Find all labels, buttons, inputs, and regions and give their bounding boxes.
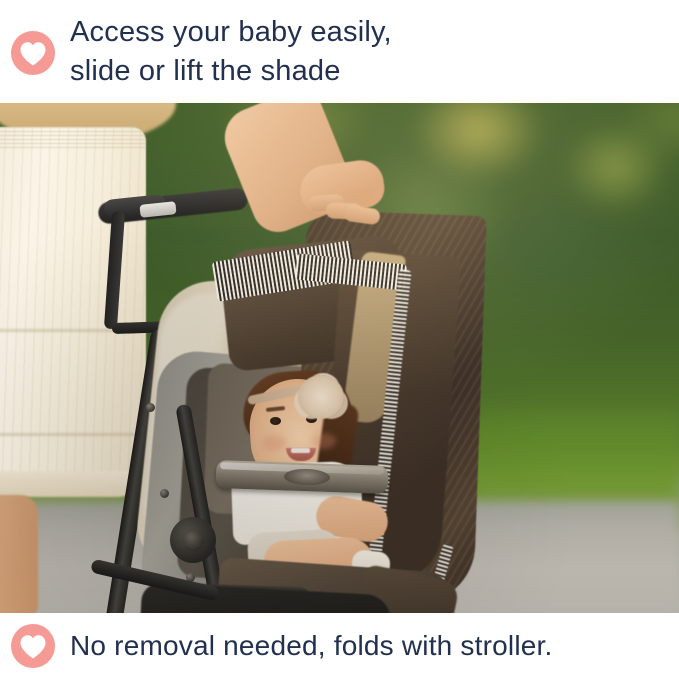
product-feature-card: Access your baby easily, slide or lift t… bbox=[0, 0, 679, 679]
baby-cheek-left bbox=[262, 435, 286, 451]
heart-in-circle-icon bbox=[10, 623, 56, 669]
bottom-caption-banner: No removal needed, folds with stroller. bbox=[0, 613, 679, 679]
top-caption-line-2: slide or lift the shade bbox=[70, 52, 392, 91]
top-caption-banner: Access your baby easily, slide or lift t… bbox=[0, 0, 679, 103]
top-caption-text: Access your baby easily, slide or lift t… bbox=[70, 13, 392, 91]
dress-hem bbox=[0, 471, 138, 497]
heart-in-circle-icon bbox=[10, 30, 56, 76]
dress-seam-lower bbox=[0, 433, 146, 436]
top-caption-line-1: Access your baby easily, bbox=[70, 13, 392, 52]
frame-rivet-2 bbox=[160, 489, 169, 498]
woman-leg bbox=[0, 495, 38, 613]
woman-dress bbox=[0, 127, 146, 495]
frame-rivet-1 bbox=[146, 403, 155, 412]
baby-teeth bbox=[291, 448, 310, 453]
headband-flower-icon bbox=[298, 375, 344, 419]
lifestyle-photo bbox=[0, 103, 679, 613]
bottom-caption-text: No removal needed, folds with stroller. bbox=[70, 629, 552, 663]
dress-waistband bbox=[0, 127, 146, 151]
frame-hinge-joint bbox=[170, 517, 216, 563]
baby-cheek-right bbox=[312, 433, 336, 449]
baby-eye-left bbox=[270, 417, 281, 425]
